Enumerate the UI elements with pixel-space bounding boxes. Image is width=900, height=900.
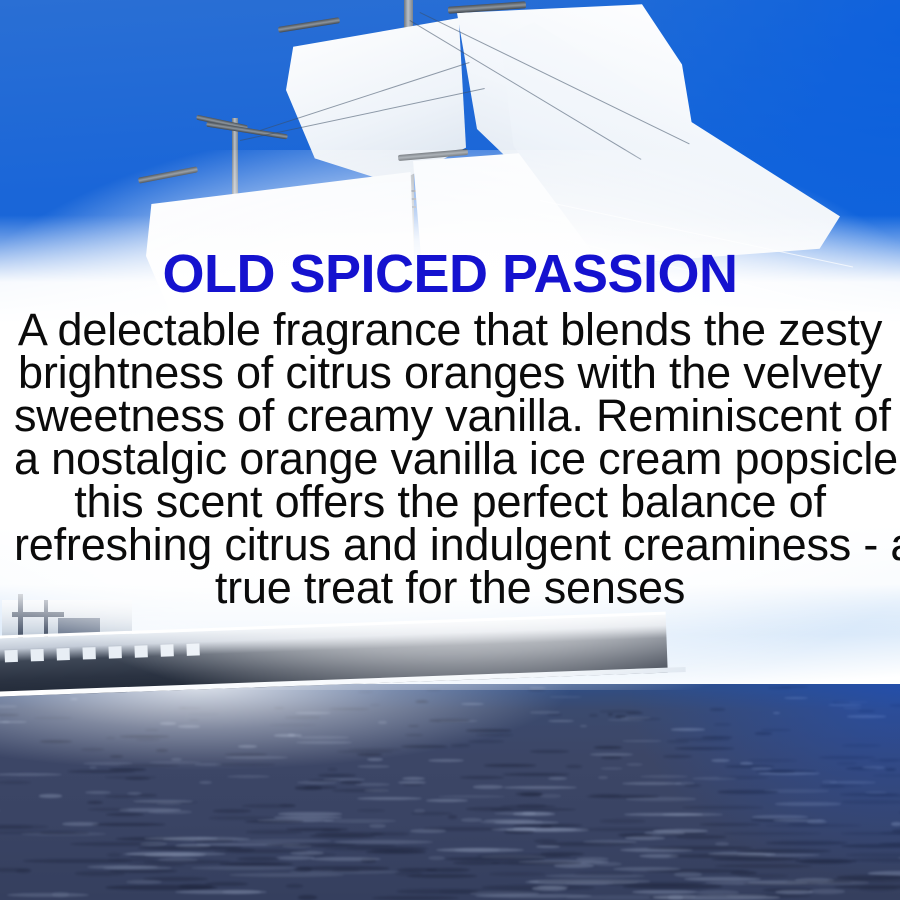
description-line: A delectable fragrance that blends the z…: [14, 308, 886, 351]
description-line: true treat for the senses: [14, 566, 886, 609]
description-line: sweetness of creamy vanilla. Reminiscent…: [14, 394, 886, 437]
banner-canvas: OLD SPICED PASSION A delectable fragranc…: [0, 0, 900, 900]
description-line: refreshing citrus and indulgent creamine…: [14, 523, 886, 566]
description-line: this scent offers the perfect balance of: [14, 480, 886, 523]
product-title: OLD SPICED PASSION: [0, 247, 900, 301]
description-line: brightness of citrus oranges with the ve…: [14, 351, 886, 394]
banner-text-block: OLD SPICED PASSION A delectable fragranc…: [0, 0, 900, 900]
product-description: A delectable fragrance that blends the z…: [14, 308, 886, 609]
description-line: a nostalgic orange vanilla ice cream pop…: [14, 437, 886, 480]
